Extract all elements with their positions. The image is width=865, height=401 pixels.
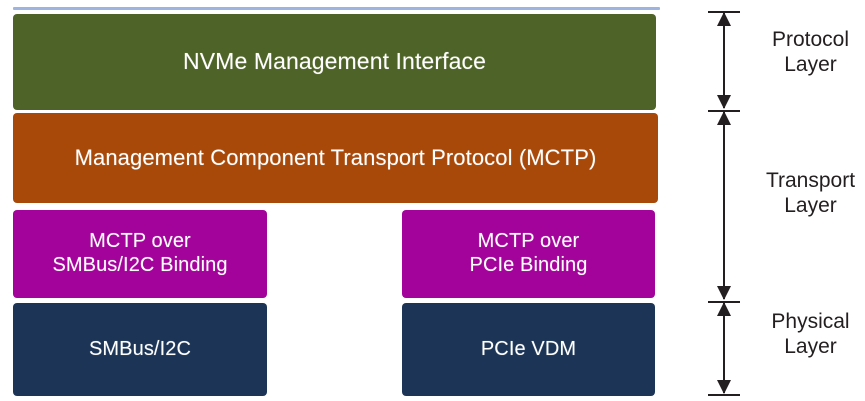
pcie-vdm-box: PCIe VDM	[402, 303, 655, 396]
mctp-box-label: Management Component Transport Protocol …	[75, 145, 597, 171]
protocol-layer-box: NVMe Management Interface	[13, 14, 656, 110]
smbus-i2c-label: SMBus/I2C	[89, 338, 191, 362]
mctp-pcie-binding-box: MCTP over PCIe Binding	[402, 210, 655, 298]
protocol-layer-span-arrow-icon	[723, 13, 725, 108]
transport-layer-span-arrow-icon	[723, 112, 725, 299]
physical-layer-span-arrow-icon	[723, 303, 725, 393]
layer-tick-bottom	[708, 394, 740, 396]
smbus-i2c-box: SMBus/I2C	[13, 303, 267, 396]
protocol-stack-diagram: NVMe Management Interface Management Com…	[0, 0, 865, 401]
pcie-vdm-label: PCIe VDM	[481, 338, 576, 362]
layer-measure-column: Protocol Layer Transport Layer Physical …	[690, 0, 865, 401]
transport-layer-caption: Transport Layer	[756, 168, 865, 218]
protocol-layer-box-label: NVMe Management Interface	[183, 48, 486, 75]
protocol-layer-caption: Protocol Layer	[756, 27, 865, 77]
mctp-smbus-i2c-binding-box: MCTP over SMBus/I2C Binding	[13, 210, 267, 298]
mctp-box: Management Component Transport Protocol …	[13, 113, 658, 203]
mctp-pcie-binding-label: MCTP over PCIe Binding	[470, 230, 588, 277]
physical-layer-caption: Physical Layer	[756, 309, 865, 359]
mctp-smbus-i2c-binding-label: MCTP over SMBus/I2C Binding	[52, 230, 227, 277]
top-accent-rule	[13, 7, 660, 10]
